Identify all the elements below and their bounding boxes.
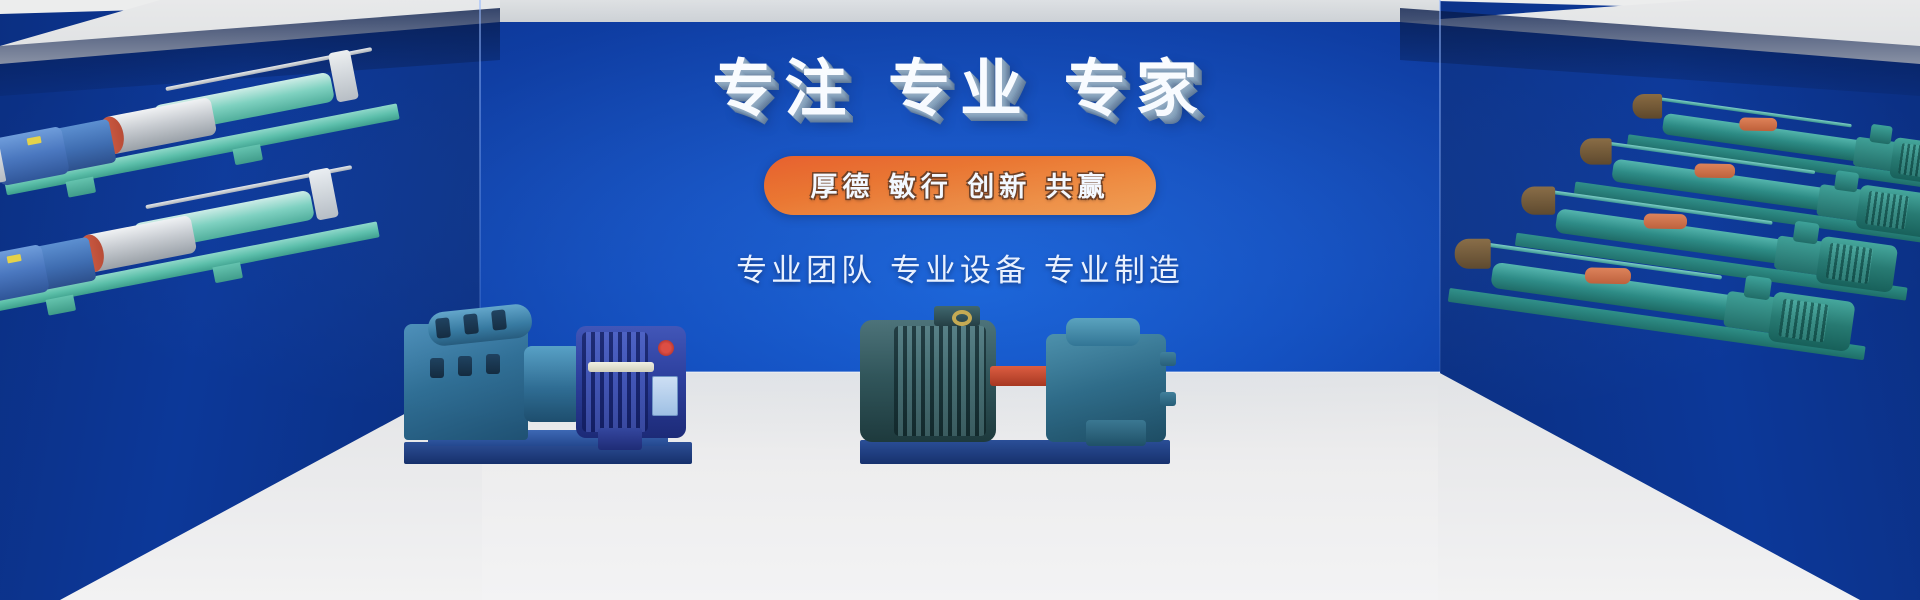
pump-inspection-cover: [1694, 163, 1735, 178]
pump-bolt: [435, 317, 451, 338]
pump-terminal-box: [1793, 221, 1820, 245]
banner-subline: 专业团队 专业设备 专业制造: [736, 245, 1184, 290]
pump-inspection-cover: [1644, 213, 1687, 229]
pump-inspection-cover: [1739, 117, 1777, 131]
pump-support-block: [1086, 420, 1146, 446]
pump-inspection-cover: [1585, 267, 1631, 284]
pump-end-cap: [1580, 138, 1612, 164]
pump-screw-housing: [1066, 318, 1140, 346]
pump-bolt: [463, 313, 479, 334]
motor-terminal-box: [598, 428, 642, 450]
motor-cooling-fins: [582, 332, 648, 432]
product-banner: 专注 专业 专家 厚德 敏行 创新 共赢 专业团队 专业设备 专业制造: [0, 0, 1920, 600]
pump-coupling-shaft: [990, 366, 1054, 386]
pump-terminal-box: [1743, 275, 1772, 300]
motor-nameplate: [652, 376, 678, 416]
pump-end-cap: [1521, 187, 1555, 215]
motor-lifting-eye: [952, 310, 972, 326]
pump-coupling-guard: [524, 346, 582, 422]
pump-terminal-box: [1834, 170, 1859, 192]
right-pump-group: [1470, 100, 1920, 340]
pump-end-cap: [1633, 94, 1663, 119]
motor-ribbon-label: [588, 362, 654, 372]
motor-cooling-fins: [894, 326, 986, 436]
teal-motor-pump: [860, 300, 1190, 480]
pump-port: [1160, 352, 1176, 366]
pump-bolt: [458, 356, 472, 376]
pump-port: [1160, 392, 1176, 406]
pump-end-cap: [1455, 239, 1491, 269]
banner-headline: 专注 专业 专家: [712, 58, 1207, 120]
pump-terminal-box: [1869, 124, 1893, 145]
pump-bolt: [430, 358, 444, 378]
pump-bolt: [491, 309, 507, 330]
pump-bolt: [486, 354, 500, 374]
three-screw-pump: [400, 300, 720, 480]
motor-brand-badge: [658, 340, 674, 356]
banner-slogan-badge: 厚德 敏行 创新 共赢: [764, 156, 1155, 215]
